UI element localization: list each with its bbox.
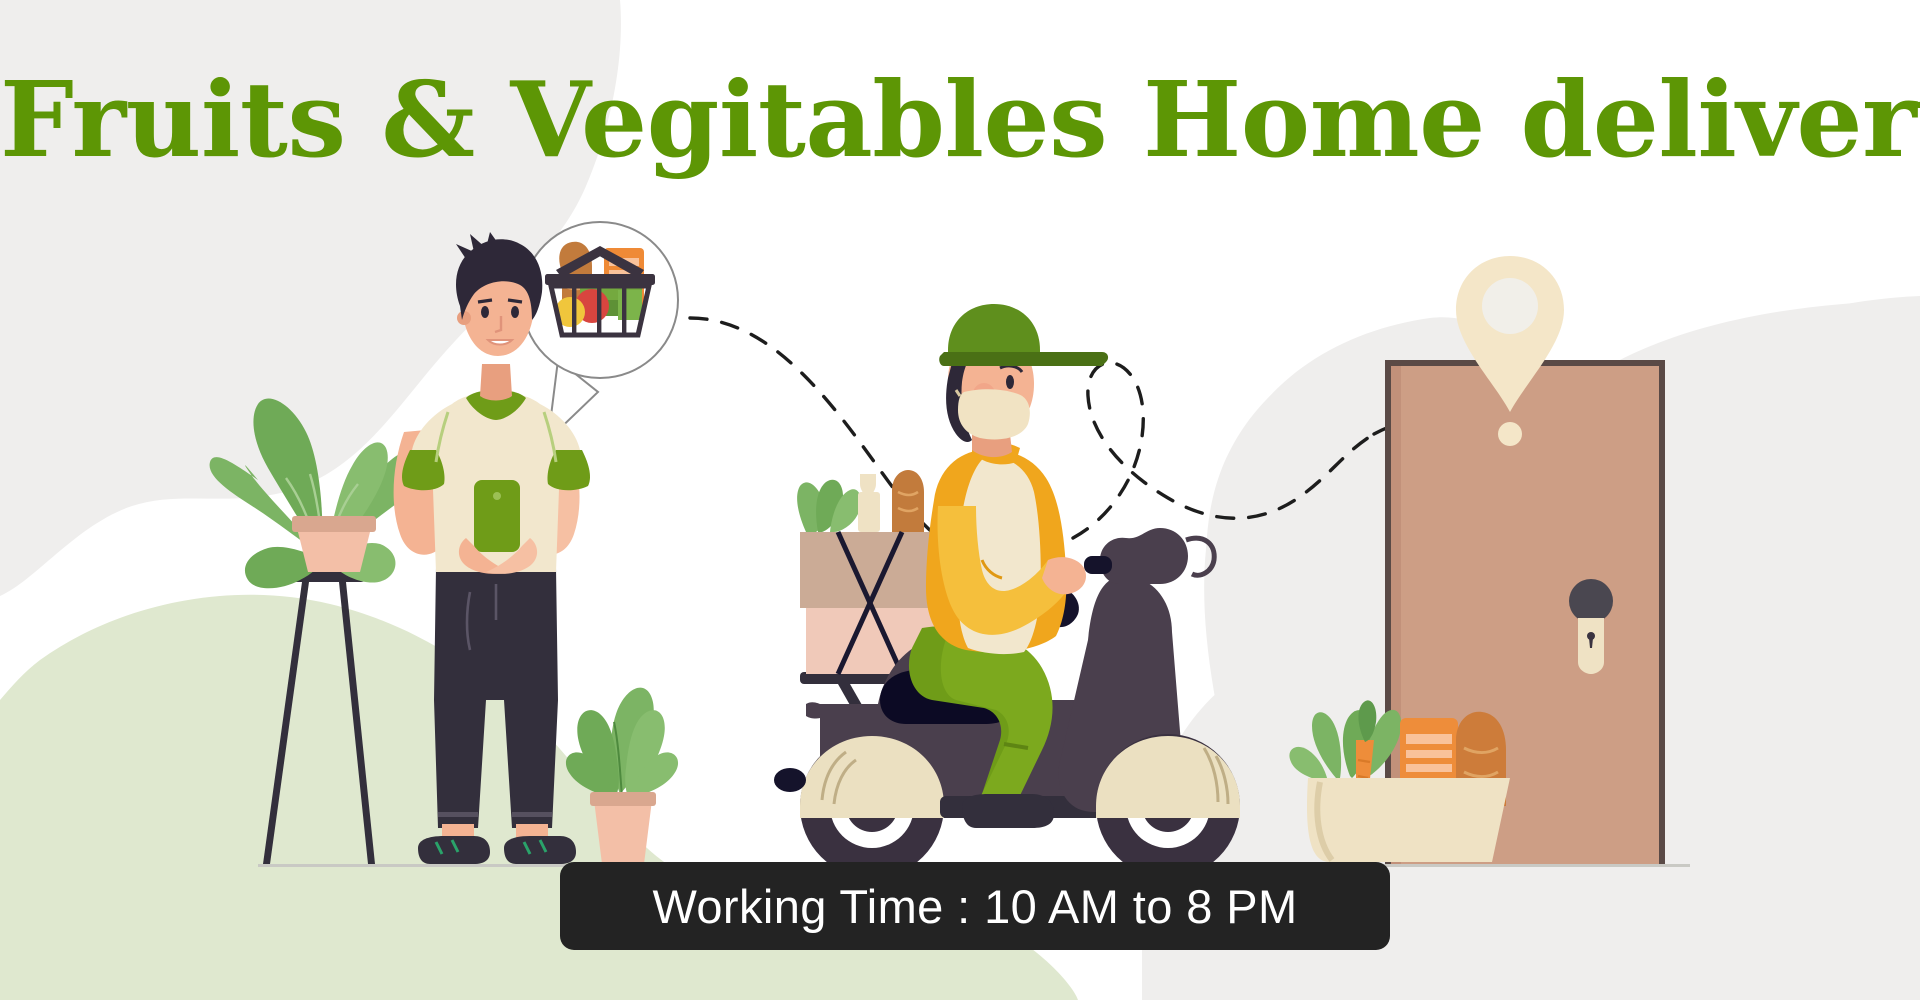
pin-anchor-dot bbox=[1498, 422, 1522, 446]
small-plant-pot-rim bbox=[590, 792, 656, 806]
rider-shoe bbox=[962, 794, 1054, 828]
working-time-label: Working Time : 10 AM to 8 PM bbox=[652, 883, 1297, 930]
face-mask bbox=[958, 389, 1030, 439]
scooter-handlebar bbox=[1100, 528, 1188, 584]
rider-cap bbox=[948, 304, 1040, 356]
customer-eye-right bbox=[511, 306, 519, 318]
customer-neck bbox=[480, 364, 512, 401]
poster-canvas: Fruits & Vegitables Home delivery Workin… bbox=[0, 0, 1920, 1000]
door-bag-body bbox=[1307, 778, 1510, 862]
baguette bbox=[892, 470, 924, 532]
plant-stand-leg-left bbox=[263, 582, 309, 864]
small-plant-pot bbox=[594, 800, 652, 864]
plant-pot-rim bbox=[292, 516, 376, 532]
customer-shoe-left bbox=[418, 836, 490, 864]
rider-cap-brim bbox=[939, 352, 1108, 366]
scooter-mirror-arm bbox=[1186, 538, 1214, 575]
delivery-scooter-and-rider bbox=[774, 304, 1240, 878]
smartphone-camera bbox=[493, 492, 501, 500]
scooter-grip bbox=[1084, 556, 1112, 574]
working-time-banner: Working Time : 10 AM to 8 PM bbox=[560, 862, 1390, 950]
page-title: Fruits & Vegitables Home delivery bbox=[0, 68, 1920, 172]
smartphone[interactable] bbox=[474, 480, 520, 552]
grocery-bag-at-door bbox=[1289, 700, 1510, 862]
small-potted-plant bbox=[566, 688, 678, 864]
scooter-rear-peg bbox=[774, 768, 806, 792]
rider-eye bbox=[1006, 375, 1014, 389]
plant-stand-leg-right bbox=[339, 582, 375, 864]
customer-door bbox=[1289, 256, 1665, 864]
door-knob[interactable] bbox=[1569, 579, 1613, 623]
customer-eye-left bbox=[481, 306, 489, 318]
